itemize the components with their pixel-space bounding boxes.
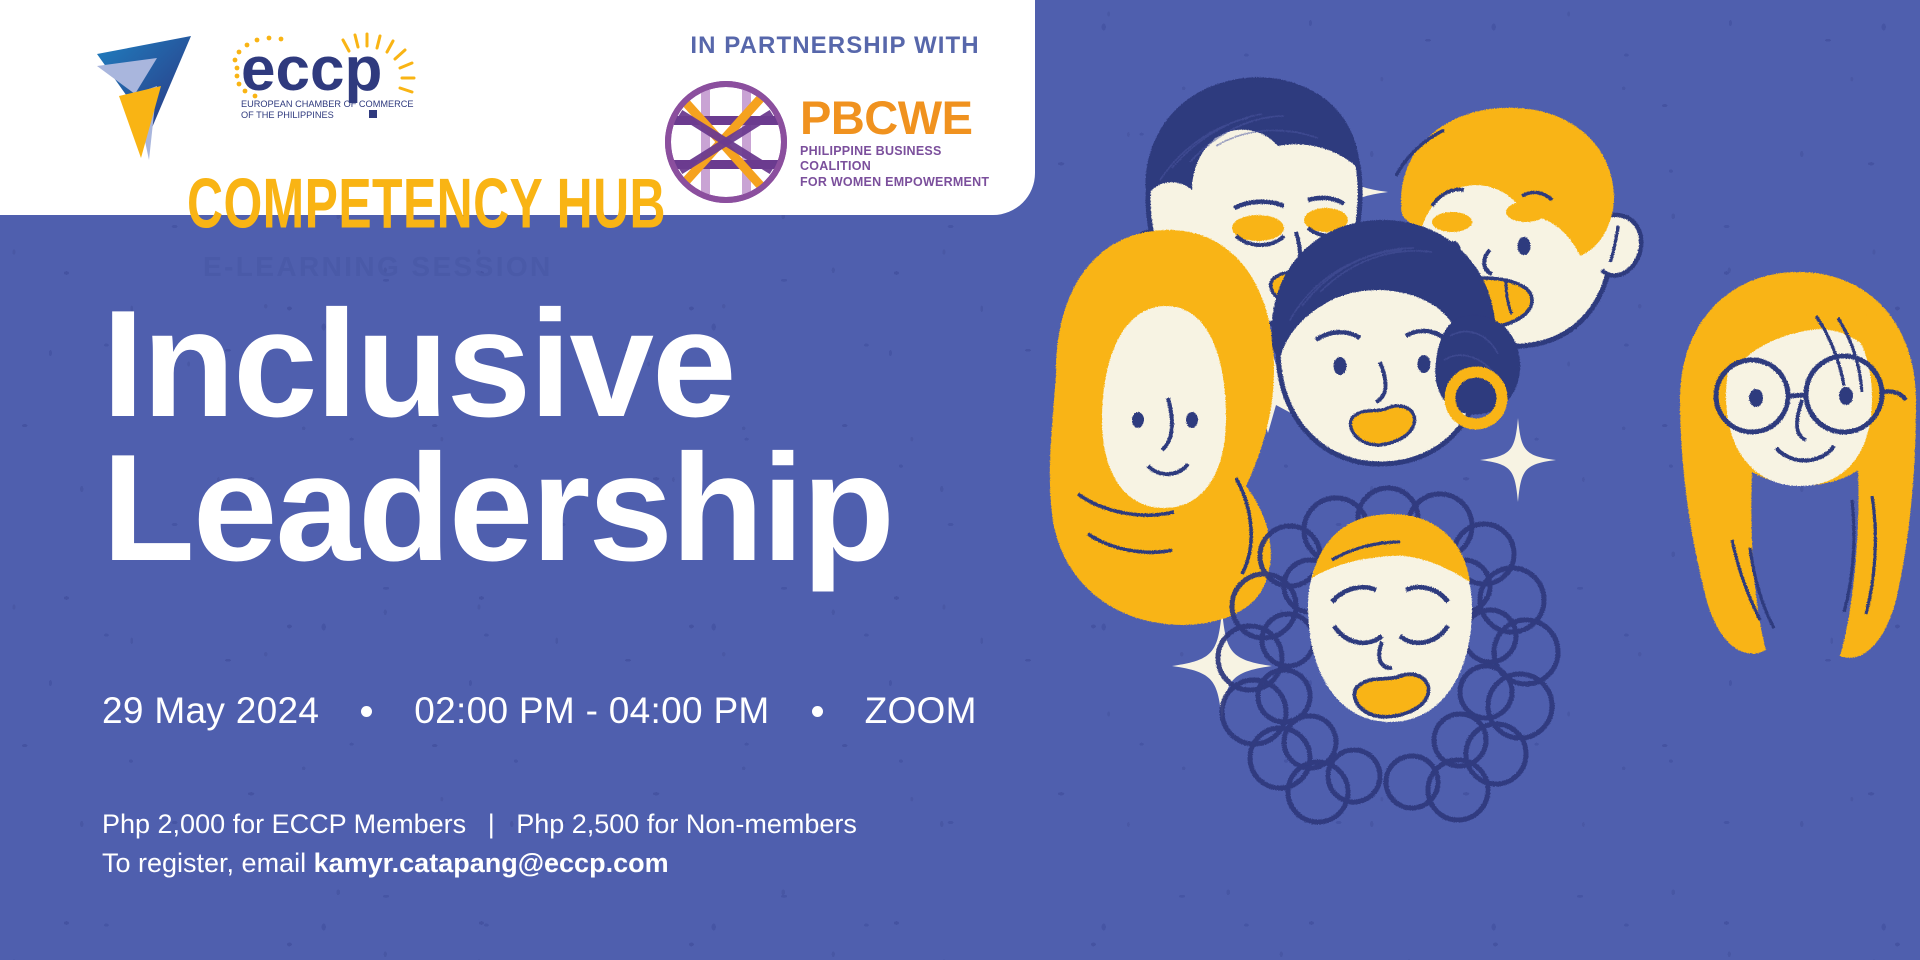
eccp-tagline-line2: OF THE PHILIPPINES [241,110,334,120]
svg-text:eccp: eccp [241,35,382,104]
sparkle-four-point-small [1480,418,1556,502]
pbcwe-woven-circle-icon [660,76,792,208]
title-line-2: Leadership [102,436,893,580]
event-time: 02:00 PM - 04:00 PM [414,690,769,732]
page-title: Inclusive Leadership [102,292,893,581]
partnership-label: IN PARTNERSHIP WITH [690,32,979,60]
pbcwe-acronym: PBCWE [800,94,1010,141]
member-price: Php 2,000 for ECCP Members [102,809,466,839]
registration-prefix: To register, email [102,848,314,878]
registration-email[interactable]: kamyr.catapang@eccp.com [314,848,669,878]
pbcwe-fullname-line1: PHILIPPINE BUSINESS COALITION [800,144,1010,175]
eccp-wordmark: eccp EUROPEAN CHAMBER OF COMMERCE [217,32,467,124]
eccp-tagline-line1: EUROPEAN CHAMBER OF COMMERCE [241,99,414,109]
bullet-dot-icon [812,706,823,717]
event-date: 29 May 2024 [102,690,319,732]
pbcwe-fullname-line2: FOR WOMEN EMPOWERMENT [800,175,1010,191]
bullet-dot-icon [361,706,372,717]
registration-line: To register, email kamyr.catapang@eccp.c… [102,844,857,883]
partnership-block: IN PARTNERSHIP WITH [660,32,1010,208]
pricing-and-registration: Php 2,000 for ECCP Members | Php 2,500 f… [102,805,857,883]
event-meta-row: 29 May 2024 02:00 PM - 04:00 PM ZOOM [102,690,977,732]
face-hijab-amber [1050,230,1274,625]
nonmember-price: Php 2,500 for Non-members [516,809,857,839]
faces-illustration [1040,0,1920,960]
price-divider: | [474,809,509,839]
promo-banner: eccp EUROPEAN CHAMBER OF COMMERCE [0,0,1920,960]
eccp-logo-block: eccp EUROPEAN CHAMBER OF COMMERCE [95,30,615,283]
logo-card: eccp EUROPEAN CHAMBER OF COMMERCE [0,0,1035,215]
event-platform: ZOOM [865,690,977,732]
title-line-1: Inclusive [102,292,893,436]
paper-plane-icon [95,34,213,164]
face-blond-glasses [1680,272,1916,658]
face-curly-navy-headband [1218,488,1558,822]
pricing-line: Php 2,000 for ECCP Members | Php 2,500 f… [102,805,857,844]
competency-hub-title: COMPETENCY HUB [187,170,555,237]
